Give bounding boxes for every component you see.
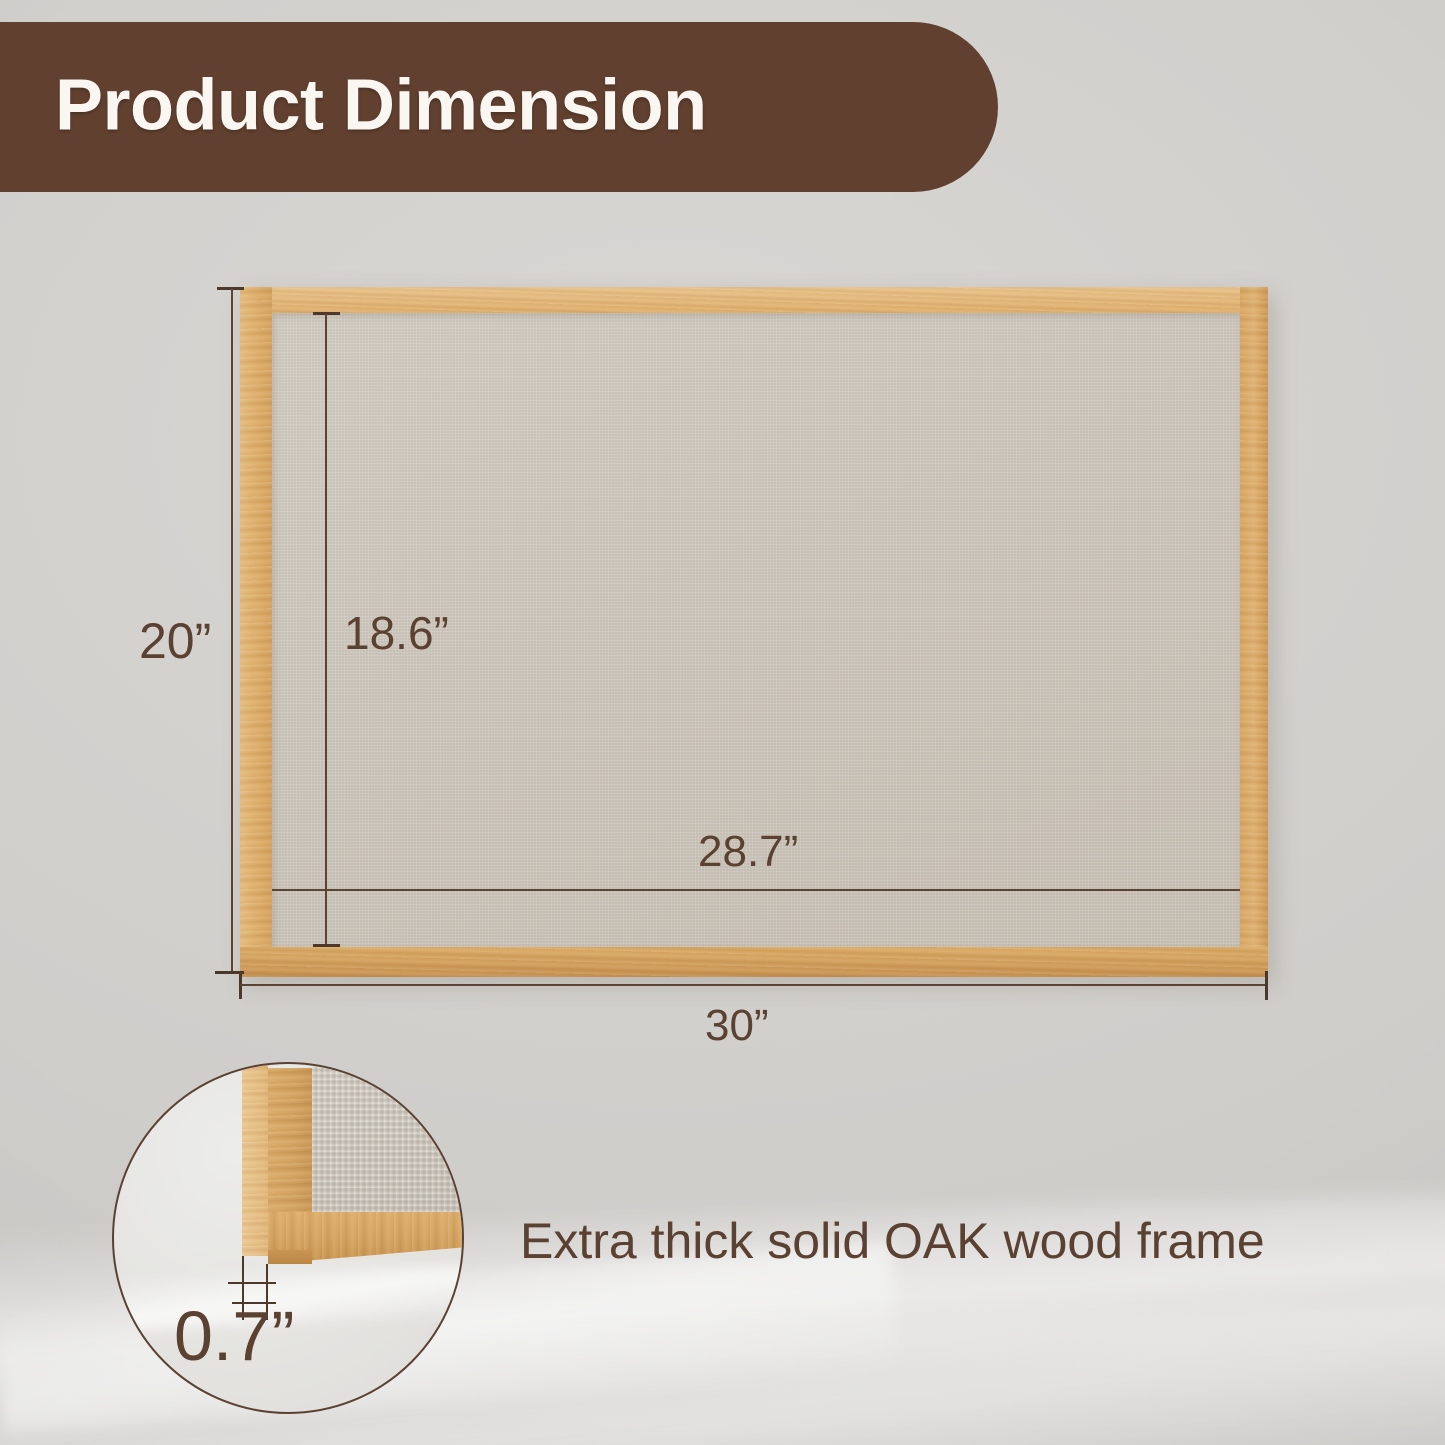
dim-tick-inner-height-bottom xyxy=(313,944,340,947)
dim-line-inner-width xyxy=(272,889,1240,891)
detail-dim-tick-top xyxy=(228,1282,276,1284)
detail-linen-fabric xyxy=(312,1064,464,1212)
detail-frame-bottom-edge xyxy=(268,1250,312,1264)
dim-tick-outer-width-right xyxy=(1265,971,1268,1000)
dim-label-outer-height: 20” xyxy=(139,612,211,670)
dim-line-outer-width xyxy=(240,984,1267,986)
dim-label-outer-width: 30” xyxy=(705,1001,769,1051)
frame-thickness-detail-callout: 0.7” xyxy=(112,1062,464,1414)
dim-line-inner-height xyxy=(325,313,327,945)
dim-line-outer-height xyxy=(231,288,233,972)
detail-frame-side-edge xyxy=(242,1064,268,1256)
dim-label-frame-thickness: 0.7” xyxy=(174,1296,295,1376)
infographic-canvas: Product Dimension 20” 18.6” 28.7” 30” 0. xyxy=(0,0,1445,1445)
page-title: Product Dimension xyxy=(55,64,707,146)
frame-rail-top xyxy=(240,287,1268,313)
dim-label-inner-width: 28.7” xyxy=(698,827,798,877)
frame-rail-bottom xyxy=(240,947,1268,977)
dim-label-inner-height: 18.6” xyxy=(344,606,449,660)
detail-caption: Extra thick solid OAK wood frame xyxy=(520,1212,1265,1270)
frame-rail-left xyxy=(240,287,272,977)
header-banner: Product Dimension xyxy=(0,22,998,192)
frame-rail-right xyxy=(1240,287,1268,977)
